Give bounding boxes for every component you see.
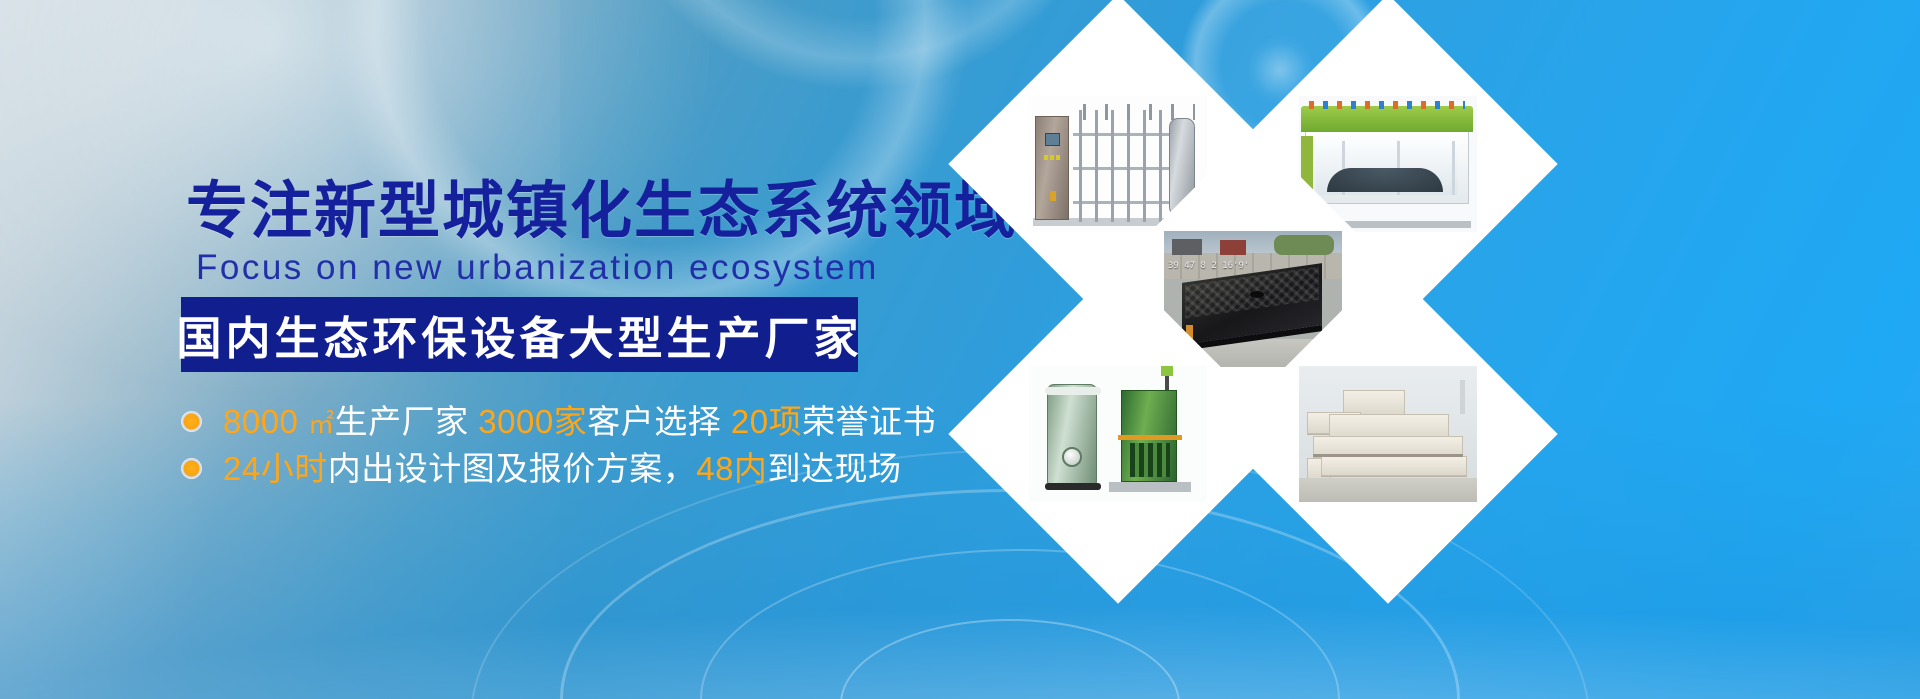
banner-hero: 专注新型城镇化生态系统领域 Focus on new urbanization … [0, 0, 1920, 699]
headline-chinese: 专注新型城镇化生态系统领域 [186, 178, 1018, 245]
feature-line-2: 24小时内出设计图及报价方案，48内到达现场 [223, 452, 901, 485]
text-run: 8000 [223, 403, 308, 440]
text-run: 3000家 [478, 403, 587, 440]
highlight-box: 国内生态环保设备大型生产厂家 [181, 297, 858, 372]
highlight-box-label: 国内生态环保设备大型生产厂家 [177, 302, 863, 367]
headline-english: Focus on new urbanization ecosystem [196, 248, 879, 288]
feature-list: 8000 ㎡生产厂家 3000家客户选择 20项荣誉证书 24小时内出设计图及报… [181, 398, 941, 492]
photo-stamp-text: 39 47 8 2 16'9' [1168, 261, 1249, 271]
text-run: 48内 [696, 450, 767, 487]
product-diamond-gallery: 39 47 8 2 16'9' [898, 44, 1920, 574]
photo-frp-pump-station [1029, 366, 1207, 502]
bullet-dot-icon [181, 458, 202, 479]
text-run: 20项 [731, 403, 802, 440]
banner-copy: 专注新型城镇化生态系统领域 Focus on new urbanization … [0, 0, 1000, 699]
text-run: 内出设计图及报价方案， [328, 450, 697, 487]
text-run: ㎡ [308, 409, 335, 439]
list-item: 8000 ㎡生产厂家 3000家客户选择 20项荣誉证书 [181, 398, 941, 445]
text-run: 24小时 [223, 450, 328, 487]
text-run: 客户选择 [587, 403, 731, 440]
feature-line-1: 8000 ㎡生产厂家 3000家客户选择 20项荣誉证书 [223, 405, 936, 438]
photo-aac-block-stacks [1299, 366, 1477, 502]
text-run: 生产厂家 [335, 403, 479, 440]
list-item: 24小时内出设计图及报价方案，48内到达现场 [181, 445, 941, 492]
text-run: 到达现场 [767, 450, 901, 487]
bullet-dot-icon [181, 411, 202, 432]
